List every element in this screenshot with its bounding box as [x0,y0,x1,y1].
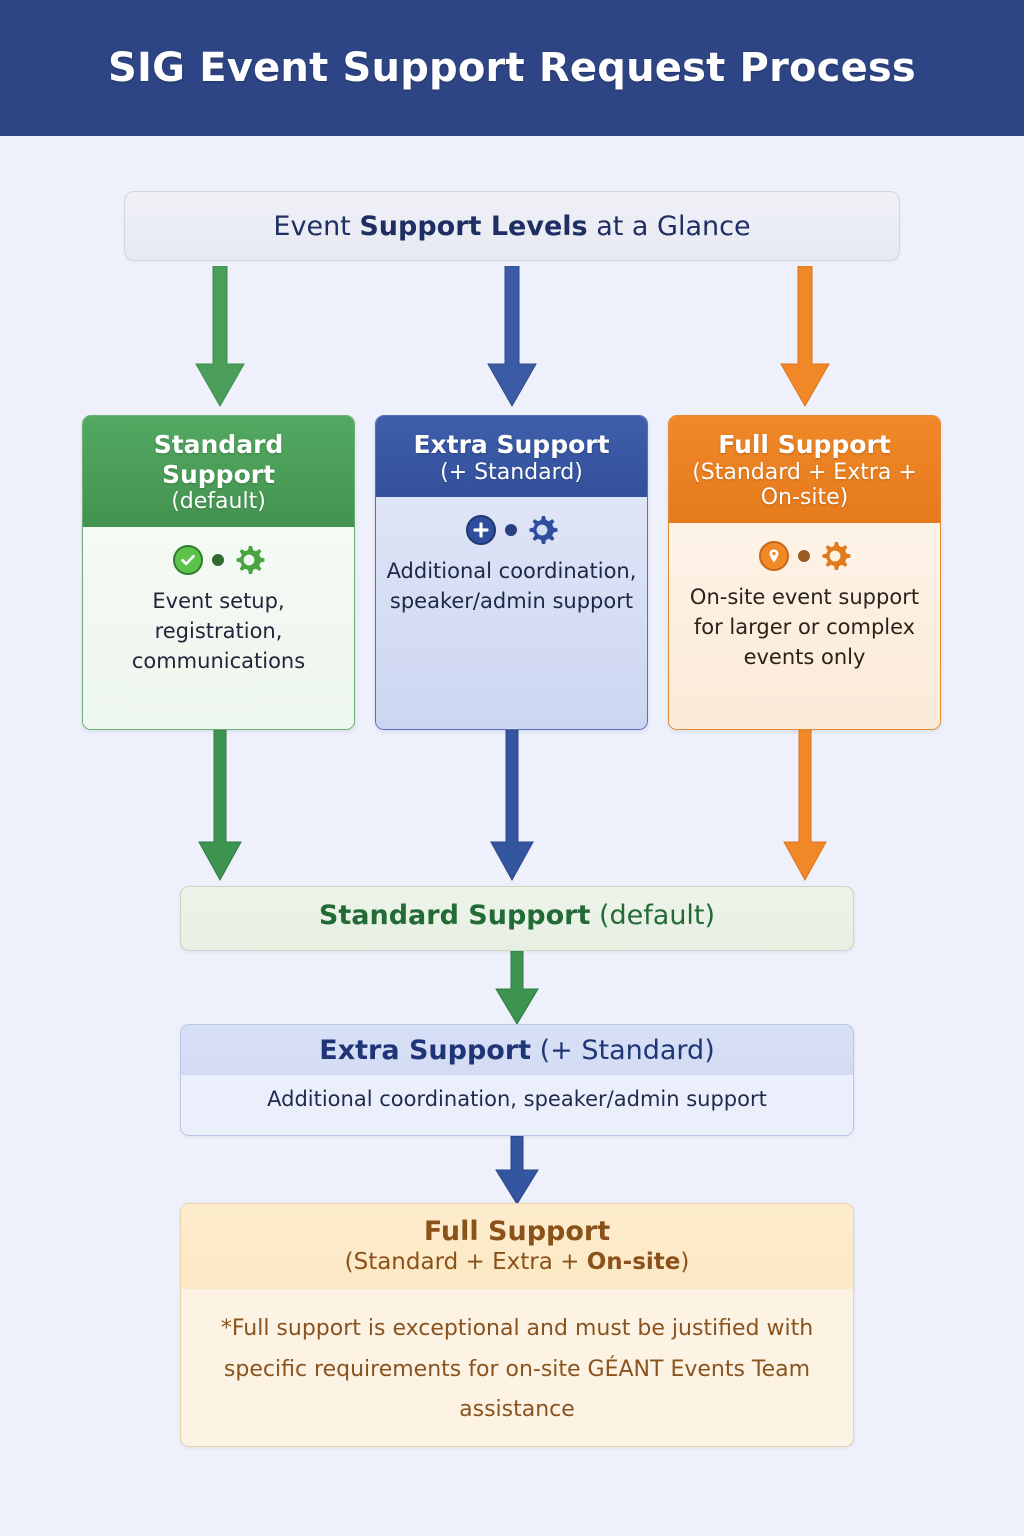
summary-extra-title-bold: Extra Support [319,1035,531,1066]
dot-icon [505,524,517,536]
summary-full-subtitle-after: ) [680,1249,689,1275]
summary-extra-title-rest: (+ Standard) [531,1035,715,1066]
card-standard-description: Event setup, registration, communication… [93,587,344,676]
banner-text-after: at a Glance [588,211,751,242]
page-header-bar: SIG Event Support Request Process [0,0,1024,136]
card-extra-header: Extra Support (+ Standard) [376,416,647,497]
card-standard-icon-row [173,539,265,581]
card-standard-support[interactable]: Standard Support (default) Event setup, … [82,415,355,730]
page-title: SIG Event Support Request Process [108,45,916,91]
card-extra-body: Additional coordination, speaker/admin s… [376,497,647,729]
card-full-icon-row [759,535,851,577]
summary-box-extra-support[interactable]: Extra Support (+ Standard) Additional co… [180,1024,854,1136]
card-full-subtitle: (Standard + Extra + On-site) [679,460,930,512]
card-extra-support[interactable]: Extra Support (+ Standard) Additional co… [375,415,648,730]
card-standard-title: Standard Support [93,430,344,489]
summary-extra-title: Extra Support (+ Standard) [181,1025,853,1075]
check-circle-icon [173,545,203,575]
arrow-full-card-to-summary [779,730,831,882]
summary-box-standard-support[interactable]: Standard Support (default) [180,886,854,951]
location-pin-circle-icon [759,541,789,571]
card-extra-description: Additional coordination, speaker/admin s… [386,557,637,617]
summary-full-title: Full Support [193,1216,841,1249]
plus-circle-icon [466,515,496,545]
arrow-standard-card-to-summary [194,730,246,882]
dot-icon [798,550,810,562]
arrow-extra-card-to-summary [486,730,538,882]
summary-full-note: *Full support is exceptional and must be… [181,1289,853,1447]
banner-event-support-levels: Event Support Levels at a Glance [124,191,900,261]
card-extra-subtitle: (+ Standard) [386,460,637,486]
banner-text-bold: Support Levels [359,211,587,242]
arrow-banner-to-full [779,266,831,408]
card-standard-header: Standard Support (default) [83,416,354,527]
summary-standard-title-bold: Standard Support [319,900,590,931]
summary-full-subtitle-bold: On-site [587,1249,681,1275]
summary-full-header: Full Support (Standard + Extra + On-site… [181,1204,853,1289]
card-extra-title: Extra Support [386,430,637,460]
summary-standard-title: Standard Support (default) [181,887,853,945]
gear-icon [819,540,851,572]
summary-full-subtitle: (Standard + Extra + On-site) [193,1249,841,1275]
banner-text: Event Support Levels at a Glance [273,211,750,242]
card-full-description: On-site event support for larger or comp… [679,583,930,672]
gear-icon [233,544,265,576]
card-full-body: On-site event support for larger or comp… [669,523,940,729]
summary-full-subtitle-before: (Standard + Extra + [345,1249,587,1275]
card-full-title: Full Support [679,430,930,460]
banner-text-before: Event [273,211,359,242]
card-full-header: Full Support (Standard + Extra + On-site… [669,416,940,523]
arrow-banner-to-standard [194,266,246,408]
card-extra-icon-row [466,509,558,551]
arrow-banner-to-extra [486,266,538,408]
gear-icon [526,514,558,546]
arrow-extra-summary-to-full-summary [491,1136,543,1206]
summary-box-full-support[interactable]: Full Support (Standard + Extra + On-site… [180,1203,854,1447]
card-standard-subtitle: (default) [93,489,344,515]
summary-extra-subtitle: Additional coordination, speaker/admin s… [181,1075,853,1124]
dot-icon [212,554,224,566]
arrow-standard-summary-to-extra-summary [491,951,543,1026]
card-standard-body: Event setup, registration, communication… [83,527,354,729]
card-full-support[interactable]: Full Support (Standard + Extra + On-site… [668,415,941,730]
summary-standard-title-rest: (default) [590,900,715,931]
